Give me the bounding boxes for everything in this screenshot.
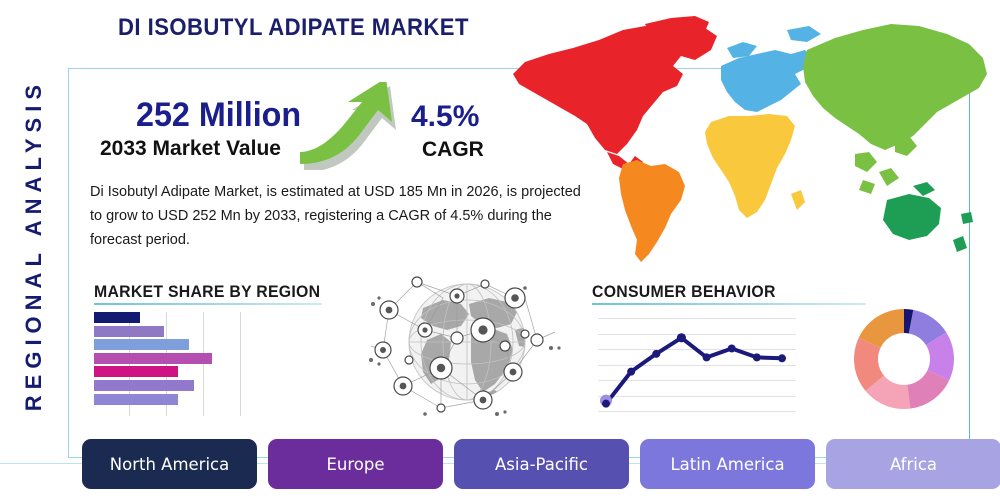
region-chip-africa[interactable]: Africa (826, 439, 1000, 489)
bar-segment (94, 353, 212, 364)
line-marker (652, 350, 660, 358)
region-chip-label: Latin America (670, 455, 784, 474)
bar-row (94, 353, 279, 364)
cagr-label: CAGR (422, 138, 484, 162)
line-marker (778, 354, 786, 362)
bar-row (94, 380, 279, 391)
region-chip-label: Asia-Pacific (495, 455, 588, 474)
region-chip-label: North America (110, 455, 229, 474)
growth-arrow-icon (300, 82, 410, 170)
market-value-figure: 252 Million (136, 96, 301, 135)
bar-row (94, 339, 279, 350)
region-chip-list: North AmericaEuropeAsia-PacificLatin Ame… (82, 439, 982, 489)
bar-segment (94, 312, 140, 323)
side-label-text: REGIONAL ANALYSIS (21, 79, 47, 411)
region-chip-europe[interactable]: Europe (268, 439, 443, 489)
market-share-heading-rule (94, 303, 322, 305)
cagr-figure: 4.5% (411, 100, 479, 134)
line-marker (627, 368, 635, 376)
region-chip-asia-pacific[interactable]: Asia-Pacific (454, 439, 629, 489)
bar-segment (94, 326, 164, 337)
market-share-heading: MARKET SHARE BY REGION (94, 282, 320, 302)
segment-donut-chart (852, 307, 956, 411)
consumer-behavior-heading: CONSUMER BEHAVIOR (592, 282, 776, 302)
bar-row (94, 366, 279, 377)
bar-segment (94, 366, 178, 377)
market-value-label: 2033 Market Value (100, 137, 281, 161)
bar-segment (94, 339, 189, 350)
line-marker (728, 344, 736, 352)
bar-row (94, 326, 279, 337)
market-share-bar-chart (94, 312, 279, 416)
bar-row (94, 394, 279, 405)
consumer-behavior-line-chart (598, 312, 796, 417)
infographic-root: REGIONAL ANALYSIS DI ISOBUTYL ADIPATE MA… (0, 0, 1000, 500)
line-marker (703, 353, 711, 361)
world-map-icon (495, 4, 995, 276)
line-marker (602, 400, 610, 408)
consumer-behavior-heading-rule (592, 303, 866, 305)
region-chip-north-america[interactable]: North America (82, 439, 257, 489)
global-network-icon (365, 268, 570, 418)
bar-row (94, 312, 279, 323)
bar-segment (94, 380, 194, 391)
page-title: DI ISOBUTYL ADIPATE MARKET (118, 14, 469, 42)
bar-segment (94, 394, 178, 405)
regional-analysis-side-label: REGIONAL ANALYSIS (10, 60, 58, 430)
region-chip-label: Europe (326, 455, 384, 474)
region-chip-label: Africa (890, 455, 937, 474)
line-marker (753, 353, 761, 361)
region-chip-latin-america[interactable]: Latin America (640, 439, 815, 489)
line-marker (677, 333, 686, 342)
